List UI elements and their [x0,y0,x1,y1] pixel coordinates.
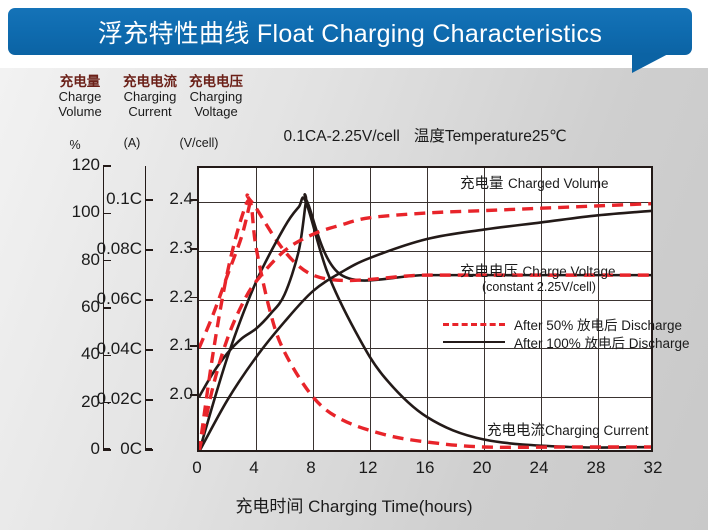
tick-label-charging-current: 0C [78,439,142,459]
legend-swatch-dashed [443,323,505,326]
axis-header-cn: 充电电压 [178,74,254,89]
legend-item-after-100: After 100% 放电后 Discharge [514,332,690,352]
axis-header-cn: 充电电流 [112,74,188,89]
tick-label-charging-time: 0 [177,458,217,478]
x-axis-title: 充电时间 Charging Time(hours) [0,492,708,517]
annotation-charging-current-cn: 充电电流 [487,423,545,439]
plot-inner [199,168,651,450]
axis-header-en-line1: Charge [42,89,118,104]
tick-label-charging-current: 0.08C [78,239,142,259]
tick-label-charging-time: 16 [405,458,445,478]
axis-unit-ampere: (A) [112,136,152,150]
chart-page: 浮充特性曲线 Float Charging Characteristics 充电… [0,0,708,530]
annotation-charge-voltage-en: Charge Voltage [522,264,615,279]
tick-label-charging-time: 12 [348,458,388,478]
tick-charging-current [145,349,153,351]
annotation-charged-volume-cn: 充电量 [460,176,504,192]
legend-swatch-solid [443,341,505,343]
annotation-charge-voltage-cn: 充电电压 [460,264,518,280]
axis-header-charge-volume: 充电量 Charge Volume [42,74,118,119]
tick-charge-volume [103,260,111,262]
axis-header-cn: 充电量 [42,74,118,89]
tick-label-charging-time: 32 [633,458,673,478]
tick-charging-current [145,249,153,251]
axis-line-charging-current [145,166,146,450]
condition-temperature: 温度Temperature25℃ [414,128,567,145]
legend-item-after-50: After 50% 放电后 Discharge [514,314,682,334]
tick-label-charging-time: 20 [462,458,502,478]
annotation-charged-volume-en: Charged Volume [508,176,609,191]
axis-header-en-line1: Charging [178,89,254,104]
tick-label-charging-voltage: 2.2 [155,287,193,307]
axis-unit-percent: % [62,138,88,152]
tick-charging-current [145,449,153,451]
annotation-charge-voltage-sub: (constant 2.25V/cell) [482,280,596,294]
tick-charging-current [145,399,153,401]
tick-label-charging-current: 0.06C [78,289,142,309]
tick-label-charging-time: 24 [519,458,559,478]
annotation-charged-volume: 充电量 Charged Volume [460,172,609,193]
tick-label-charging-time: 4 [234,458,274,478]
header-banner: 浮充特性曲线 Float Charging Characteristics [8,8,692,55]
tick-charging-current [145,299,153,301]
axis-header-en-line2: Current [112,104,188,119]
annotation-charging-current: 充电电流Charging Current [487,419,649,440]
tick-label-charge-volume: 120 [40,155,100,175]
tick-label-charging-time: 28 [576,458,616,478]
tick-charging-current [145,199,153,201]
tick-label-charging-voltage: 2.4 [155,189,193,209]
axis-header-en-line2: Voltage [178,104,254,119]
tick-label-charging-current: 0.04C [78,339,142,359]
tick-label-charging-time: 8 [291,458,331,478]
axis-header-en-line2: Volume [42,104,118,119]
tick-label-charging-current: 0.1C [78,189,142,209]
tick-charge-volume [103,213,111,215]
axis-header-charging-voltage: 充电电压 Charging Voltage [178,74,254,119]
series-layer [199,168,651,450]
axis-header-charging-current: 充电电流 Charging Current [112,74,188,119]
annotation-charge-voltage: 充电电压 Charge Voltage [460,260,616,281]
tick-label-charging-voltage: 2.0 [155,384,193,404]
tick-charge-volume [103,165,111,167]
tick-label-charging-current: 0.02C [78,389,142,409]
condition-rate: 0.1CA-2.25V/cell [284,128,400,145]
axis-header-en-line1: Charging [112,89,188,104]
banner-tail-icon [632,53,670,73]
tick-label-charging-voltage: 2.3 [155,238,193,258]
plot-area [197,166,653,452]
annotation-charging-current-en: Charging Current [545,423,649,438]
tick-label-charging-voltage: 2.1 [155,335,193,355]
page-title: 浮充特性曲线 Float Charging Characteristics [8,8,692,55]
chart-conditions: 0.1CA-2.25V/cell温度Temperature25℃ [197,124,653,146]
